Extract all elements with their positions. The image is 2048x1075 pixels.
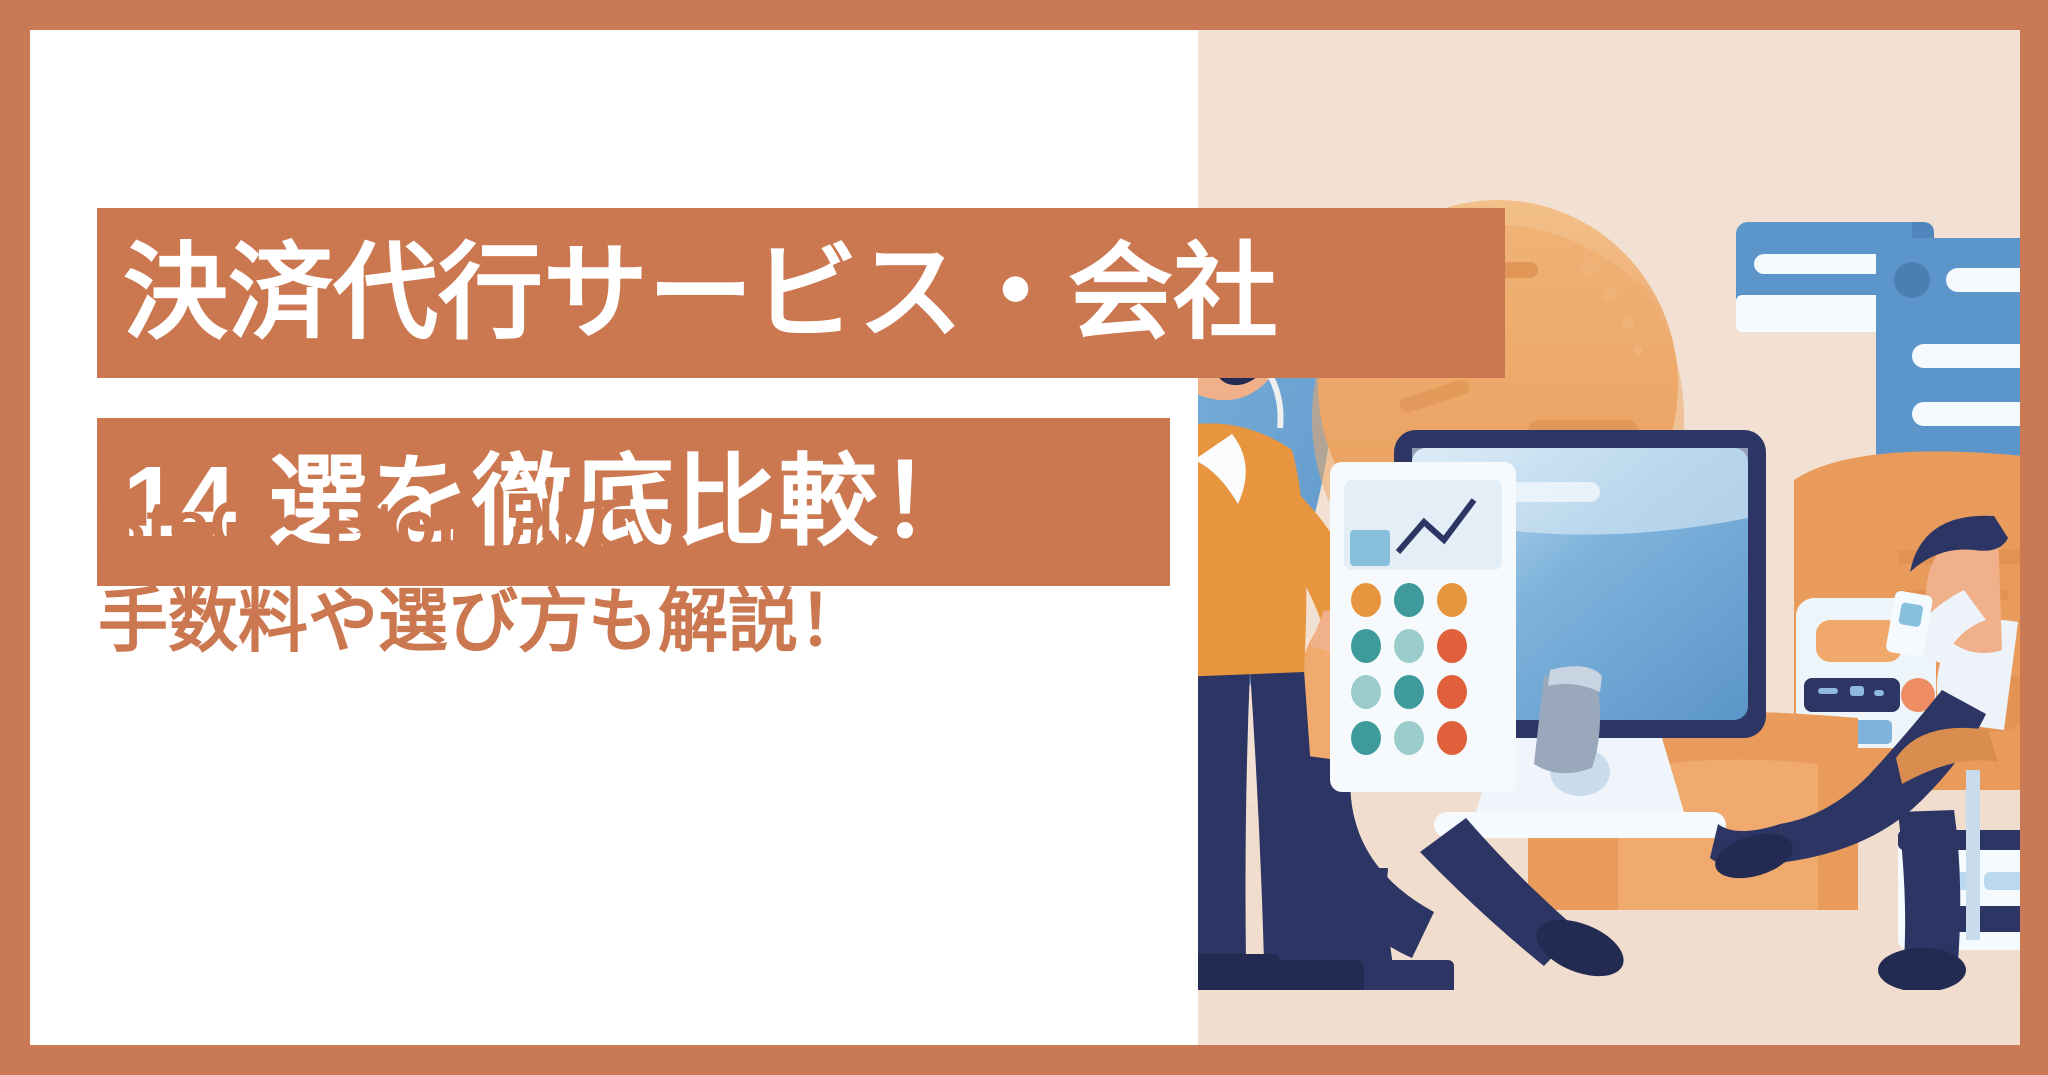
headline-band-primary: 決済代行サービス・会社 — [97, 208, 1505, 378]
subtitle-line-1: BtoC・BtoB 別で — [98, 492, 638, 559]
hero-illustration — [1198, 30, 2020, 1045]
subtitle-line-2: 手数料や選び方も解説！ — [98, 586, 868, 656]
illustration-svg — [1198, 30, 2020, 1045]
headline-line-1: 決済代行サービス・会社 — [123, 241, 1278, 346]
cup-icon — [1534, 666, 1602, 773]
tablet-chart-icon — [1330, 462, 1516, 792]
banner-root: 決済代行サービス・会社 14 選を徹底比較！ BtoC・BtoB 別で 手数料や… — [0, 0, 2048, 1075]
banner-inner-canvas: 決済代行サービス・会社 14 選を徹底比較！ BtoC・BtoB 別で 手数料や… — [30, 30, 2020, 1045]
